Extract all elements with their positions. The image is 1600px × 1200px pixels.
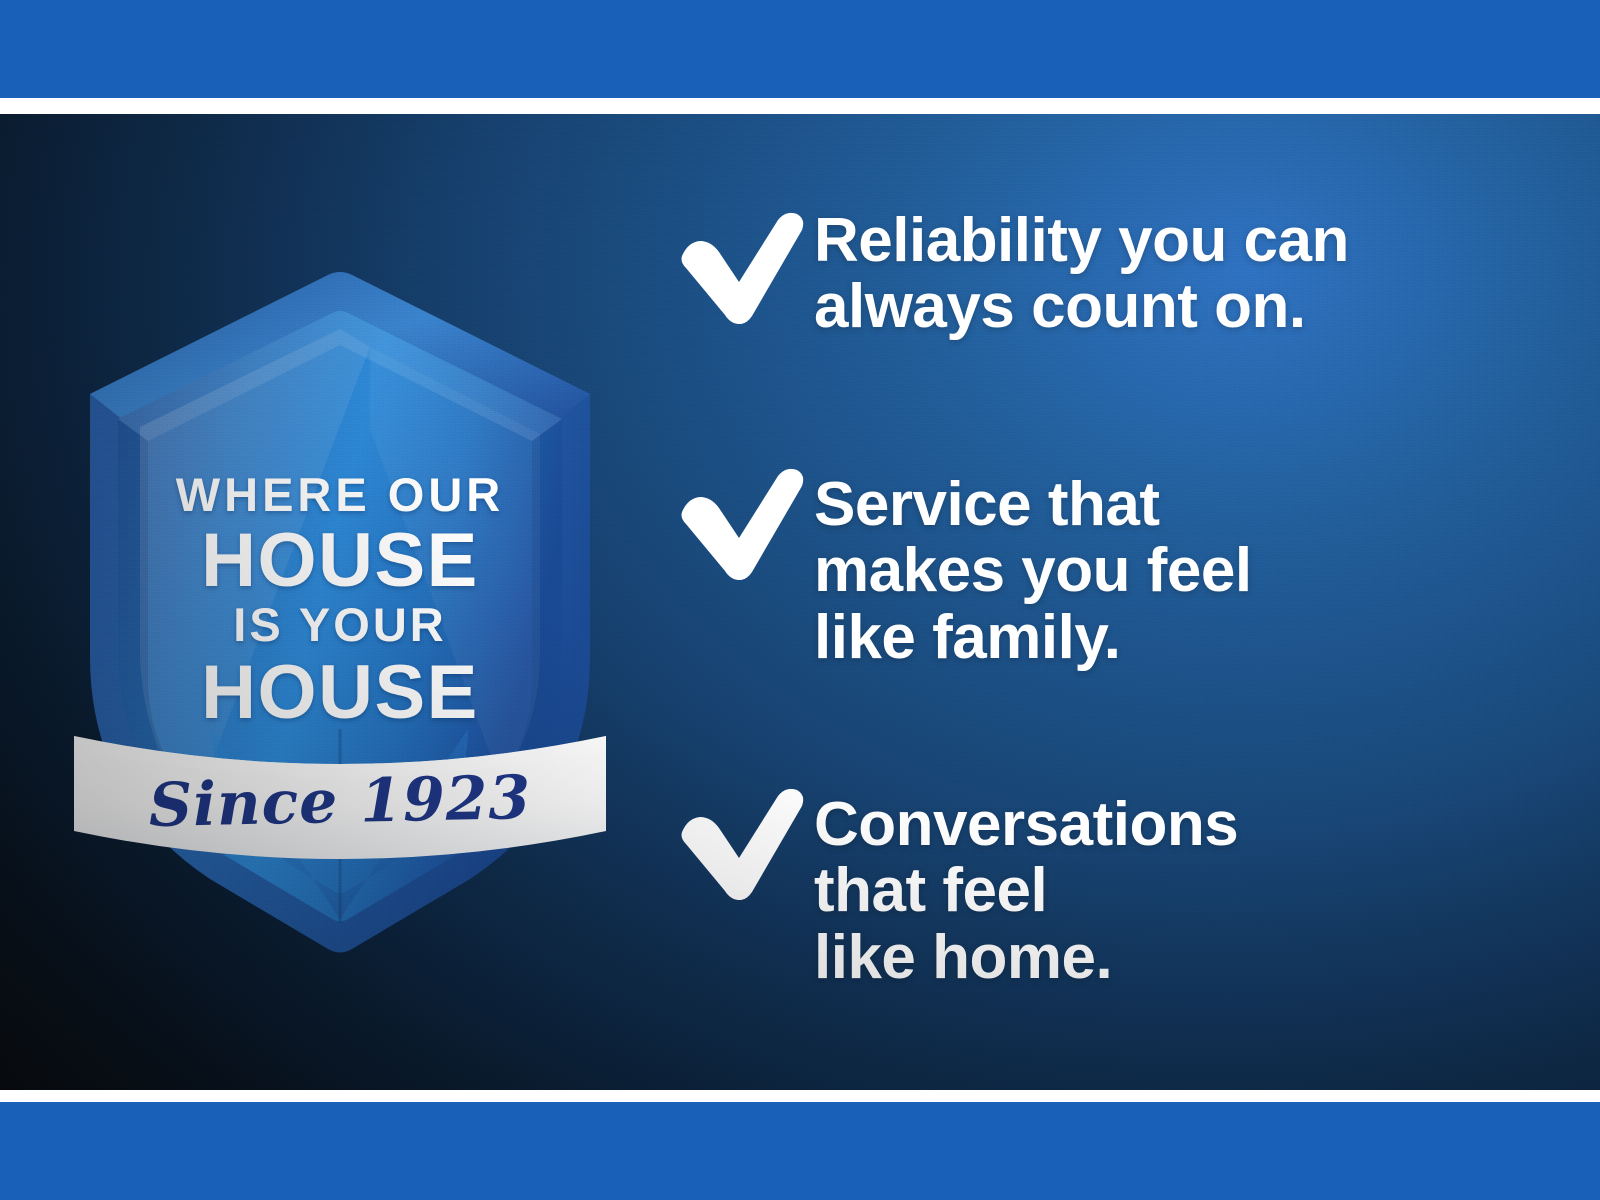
main-stage: WHERE OUR HOUSE IS YOUR HOUSE Since 1923… xyxy=(0,114,1600,1090)
benefit-item-2: Service that makes you feel like family. xyxy=(672,462,1252,671)
benefit-1-line-1: Reliability you can xyxy=(814,208,1349,274)
benefit-2-line-1: Service that xyxy=(814,472,1252,538)
check-icon xyxy=(672,462,814,582)
logo-banner-since: Since 1923 xyxy=(69,761,610,842)
benefit-3-line-2: that feel xyxy=(814,858,1238,924)
benefit-text-3: Conversations that feel like home. xyxy=(814,782,1238,991)
logo-line-2: HOUSE xyxy=(70,517,610,604)
logo-line-1: WHERE OUR xyxy=(70,467,610,522)
top-brand-bar xyxy=(0,0,1600,98)
benefit-2-line-2: makes you feel xyxy=(814,538,1252,604)
benefit-3-line-3: like home. xyxy=(814,925,1238,991)
top-white-divider xyxy=(0,98,1600,114)
logo-line-3: IS YOUR xyxy=(70,597,610,652)
promo-graphic: WHERE OUR HOUSE IS YOUR HOUSE Since 1923… xyxy=(0,0,1600,1200)
benefit-2-line-3: like family. xyxy=(814,605,1252,671)
bottom-brand-bar xyxy=(0,1102,1600,1200)
benefit-text-1: Reliability you can always count on. xyxy=(814,206,1349,341)
benefit-text-2: Service that makes you feel like family. xyxy=(814,462,1252,671)
benefit-1-line-2: always count on. xyxy=(814,274,1349,340)
check-icon xyxy=(672,782,814,902)
check-icon xyxy=(672,206,814,326)
benefit-item-1: Reliability you can always count on. xyxy=(672,206,1349,341)
benefit-3-line-1: Conversations xyxy=(814,792,1238,858)
logo-line-4: HOUSE xyxy=(70,649,610,736)
shield-logo: WHERE OUR HOUSE IS YOUR HOUSE Since 1923 xyxy=(70,259,610,939)
benefit-item-3: Conversations that feel like home. xyxy=(672,782,1238,991)
bottom-white-divider xyxy=(0,1090,1600,1102)
